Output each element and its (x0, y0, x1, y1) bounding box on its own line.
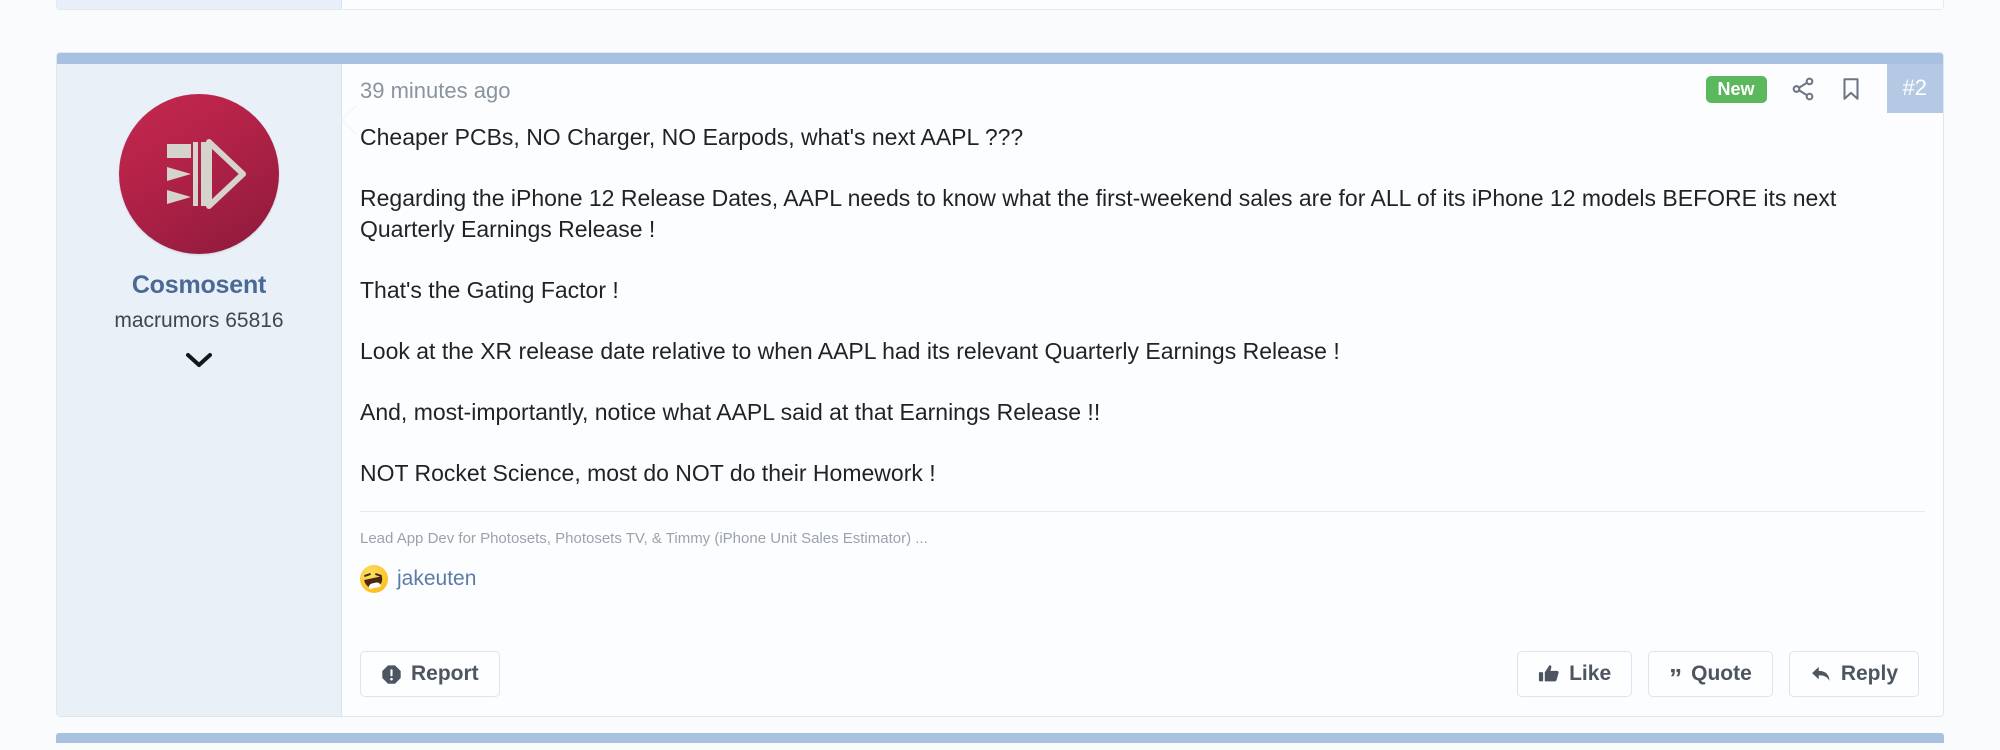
post-footer-actions: Report Like ” Quote (342, 632, 1943, 716)
author-username[interactable]: Cosmosent (132, 272, 266, 300)
avatar[interactable] (119, 94, 279, 254)
like-button[interactable]: Like (1517, 651, 1632, 697)
thumbs-up-icon (1538, 663, 1560, 685)
post-header: 39 minutes ago New (342, 64, 1943, 114)
post-message-body: Cheaper PCBs, NO Charger, NO Earpods, wh… (342, 114, 1943, 489)
share-icon[interactable] (1783, 69, 1823, 109)
previous-post-content (342, 0, 1943, 9)
quote-icon: ” (1669, 671, 1682, 687)
speech-bubble-notch (341, 105, 357, 135)
post-number[interactable]: #2 (1887, 64, 1943, 113)
alert-octagon-icon (381, 664, 402, 685)
message-paragraph: Regarding the iPhone 12 Release Dates, A… (360, 183, 1903, 245)
post-author-column: Cosmosent macrumors 65816 (57, 53, 342, 716)
reply-arrow-icon (1810, 664, 1832, 684)
forum-post: Cosmosent macrumors 65816 39 minutes ago… (56, 52, 1944, 717)
like-button-label: Like (1569, 662, 1611, 686)
bookmark-icon[interactable] (1831, 69, 1871, 109)
previous-post-partial (56, 0, 1944, 10)
chevron-down-icon[interactable] (185, 351, 213, 374)
message-paragraph: NOT Rocket Science, most do NOT do their… (360, 458, 1903, 489)
reaction-user-link[interactable]: jakeuten (397, 567, 476, 591)
post-footer-right: Like ” Quote Reply (1517, 651, 1919, 697)
reply-button[interactable]: Reply (1789, 651, 1919, 697)
author-signature: Lead App Dev for Photosets, Photosets TV… (360, 511, 1925, 549)
message-paragraph: And, most-importantly, notice what AAPL … (360, 397, 1903, 428)
post-accent-bar (57, 53, 1943, 64)
post-timestamp[interactable]: 39 minutes ago (360, 64, 510, 104)
message-paragraph: That's the Gating Factor ! (360, 275, 1903, 306)
quote-button-label: Quote (1691, 662, 1752, 686)
post-content-column: 39 minutes ago New (342, 53, 1943, 716)
next-post-accent-bar (56, 733, 1944, 743)
report-button[interactable]: Report (360, 651, 500, 697)
status-badge: New (1706, 76, 1767, 103)
report-button-label: Report (411, 662, 479, 686)
previous-post-user-column (57, 0, 342, 9)
message-paragraph: Look at the XR release date relative to … (360, 336, 1903, 367)
quote-button[interactable]: ” Quote (1648, 651, 1773, 697)
reply-button-label: Reply (1841, 662, 1898, 686)
post-header-actions: New #2 (1706, 64, 1944, 114)
post-footer-left: Report (360, 651, 500, 697)
author-title: macrumors 65816 (114, 309, 283, 333)
post-reactions: jakeuten (360, 565, 1943, 593)
message-paragraph: Cheaper PCBs, NO Charger, NO Earpods, wh… (360, 122, 1903, 153)
rolling-on-the-floor-laughing-icon (360, 565, 388, 593)
